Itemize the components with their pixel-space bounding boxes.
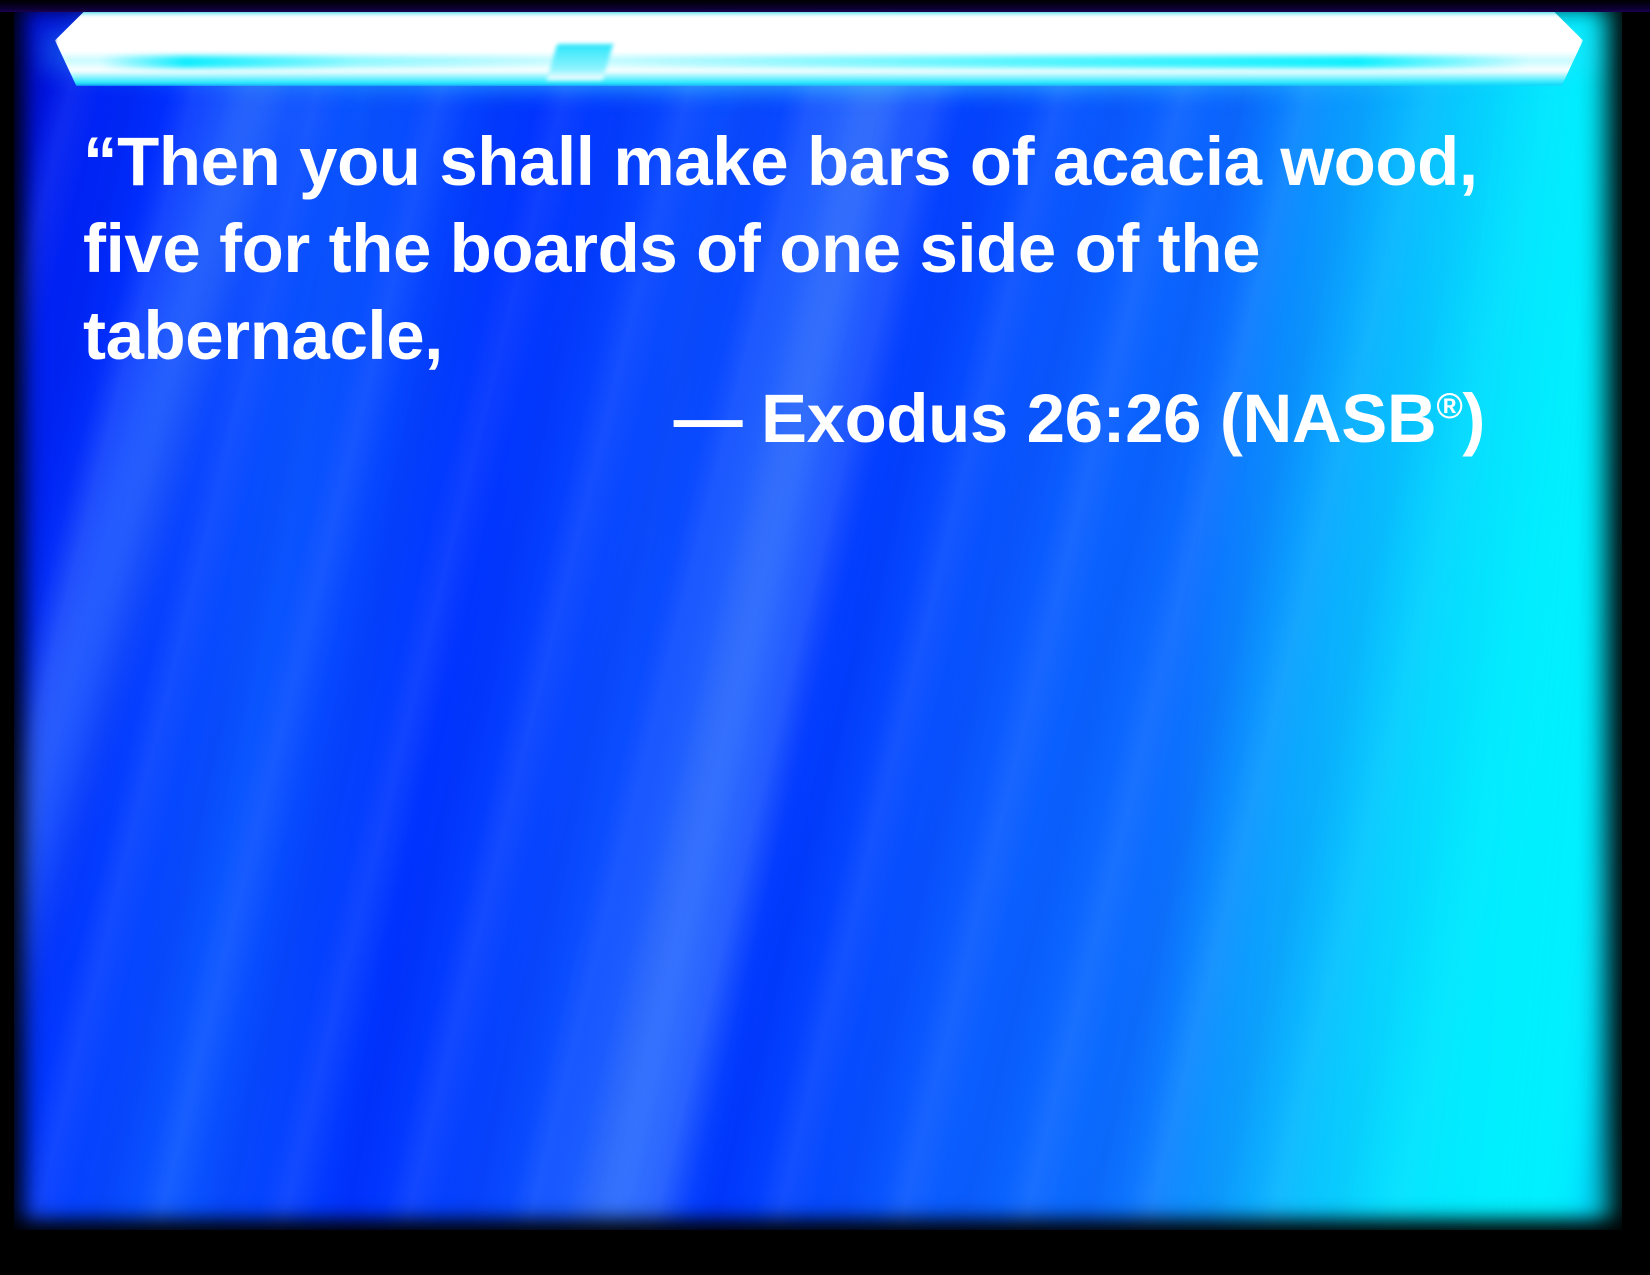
attribution-space (742, 380, 761, 457)
attribution-dash: — (674, 380, 743, 457)
attribution-reference: 26:26 (1027, 380, 1201, 457)
attribution-space-2 (1008, 380, 1027, 457)
verse-text: “Then you shall make bars of acacia wood… (83, 118, 1503, 379)
registered-trademark-icon: ® (1436, 386, 1462, 426)
verse-slide: “Then you shall make bars of acacia wood… (0, 0, 1650, 1275)
attribution-book: Exodus (761, 380, 1008, 457)
attribution-space-3 (1201, 380, 1220, 457)
attribution-translation-open: (NASB (1220, 380, 1437, 457)
attribution-translation-close: ) (1462, 380, 1485, 457)
verse-attribution: — Exodus 26:26 (NASB®) (83, 375, 1503, 462)
